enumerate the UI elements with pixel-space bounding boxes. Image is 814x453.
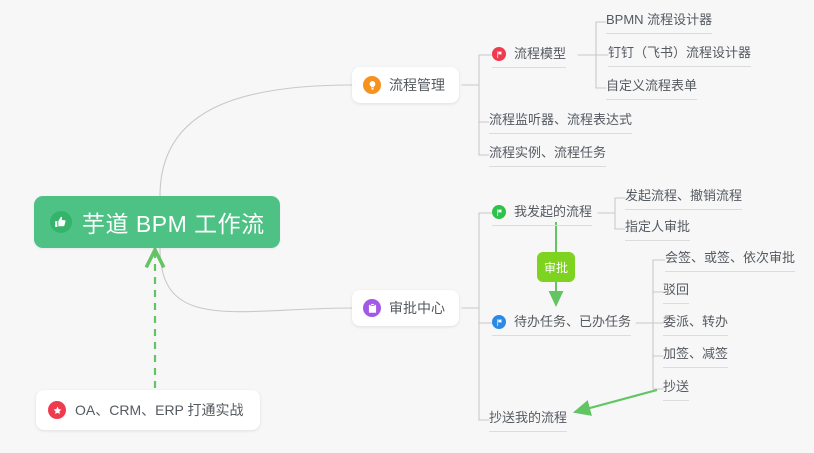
- node-cc[interactable]: 抄送: [663, 379, 689, 401]
- node-start-cancel-process[interactable]: 发起流程、撤销流程: [625, 188, 742, 210]
- node-dingtalk-feishu-designer[interactable]: 钉钉（飞书）流程设计器: [608, 45, 751, 67]
- mindmap-canvas: 芋道 BPM 工作流 流程管理 流程模型 BPMN 流程设计器 钉钉（飞书）流程…: [0, 0, 814, 453]
- node-label-bpmn-designer: BPMN 流程设计器: [606, 12, 712, 27]
- node-label-designated-approver: 指定人审批: [625, 219, 690, 234]
- node-custom-process-form[interactable]: 自定义流程表单: [606, 78, 697, 100]
- lightbulb-icon: [363, 76, 381, 94]
- node-my-initiated-process[interactable]: 我发起的流程: [492, 204, 592, 226]
- node-process-listener-expression[interactable]: 流程监听器、流程表达式: [489, 112, 632, 134]
- flag-icon: [492, 315, 506, 329]
- approval-tag-label: 审批: [544, 259, 568, 276]
- node-process-model[interactable]: 流程模型: [492, 46, 566, 68]
- integration-note-node[interactable]: OA、CRM、ERP 打通实战: [36, 390, 260, 430]
- node-label-start-cancel-process: 发起流程、撤销流程: [625, 188, 742, 203]
- star-icon: [48, 401, 66, 419]
- clipboard-icon: [363, 299, 381, 317]
- flag-icon: [492, 47, 506, 61]
- integration-note-label: OA、CRM、ERP 打通实战: [75, 400, 244, 420]
- node-label-cc: 抄送: [663, 379, 689, 394]
- node-add-remove-sign[interactable]: 加签、减签: [663, 346, 728, 368]
- node-label-my-initiated-process: 我发起的流程: [514, 204, 592, 220]
- node-label-reject: 驳回: [663, 282, 689, 297]
- node-bpmn-designer[interactable]: BPMN 流程设计器: [606, 12, 712, 34]
- node-label-delegate-transfer: 委派、转办: [663, 314, 728, 329]
- branch-label-process-management: 流程管理: [389, 75, 445, 95]
- approval-tag[interactable]: 审批: [537, 252, 575, 282]
- node-label-process-instance-task: 流程实例、流程任务: [489, 145, 606, 160]
- root-node[interactable]: 芋道 BPM 工作流: [34, 196, 280, 248]
- node-todo-done-tasks[interactable]: 待办任务、已办任务: [492, 314, 631, 336]
- flag-icon: [492, 205, 506, 219]
- node-countersign-or-sequential[interactable]: 会签、或签、依次审批: [665, 250, 795, 272]
- node-label-countersign-or-sequential: 会签、或签、依次审批: [665, 250, 795, 265]
- branch-label-approval-center: 审批中心: [389, 298, 445, 318]
- node-reject[interactable]: 驳回: [663, 282, 689, 304]
- node-label-process-model: 流程模型: [514, 46, 566, 62]
- node-process-instance-task[interactable]: 流程实例、流程任务: [489, 145, 606, 167]
- node-cc-to-me-process[interactable]: 抄送我的流程: [489, 410, 567, 432]
- node-label-todo-done-tasks: 待办任务、已办任务: [514, 314, 631, 330]
- thumbs-up-icon: [50, 211, 72, 233]
- node-label-add-remove-sign: 加签、减签: [663, 346, 728, 361]
- branch-node-process-management[interactable]: 流程管理: [352, 67, 459, 103]
- root-label: 芋道 BPM 工作流: [82, 205, 265, 239]
- branch-node-approval-center[interactable]: 审批中心: [352, 290, 459, 326]
- node-label-cc-to-me-process: 抄送我的流程: [489, 410, 567, 425]
- node-designated-approver[interactable]: 指定人审批: [625, 219, 690, 241]
- node-label-dingtalk-feishu-designer: 钉钉（飞书）流程设计器: [608, 45, 751, 60]
- node-label-custom-process-form: 自定义流程表单: [606, 78, 697, 93]
- node-delegate-transfer[interactable]: 委派、转办: [663, 314, 728, 336]
- node-label-process-listener-expression: 流程监听器、流程表达式: [489, 112, 632, 127]
